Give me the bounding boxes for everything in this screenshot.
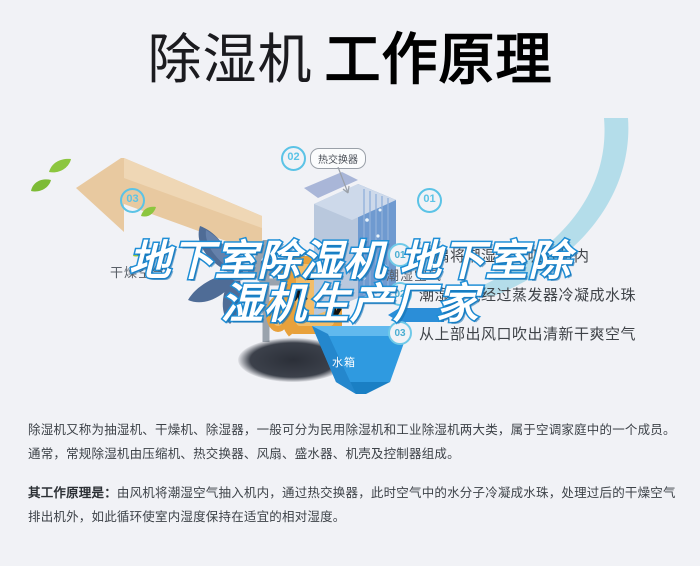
step-marker-02-number: 02 — [281, 146, 306, 171]
legend-text-02: 潮湿空气经过蒸发器冷凝成水珠 — [419, 284, 636, 305]
paragraph-2: 其工作原理是：由风机将潮湿空气抽入机内，通过热交换器，此时空气中的水分子冷凝成水… — [28, 481, 678, 530]
leaf-icon — [48, 158, 72, 179]
legend-text-01: 风扇将潮湿空气吸入机内 — [419, 245, 590, 266]
step-marker-01-number: 01 — [417, 188, 442, 213]
dry-air-label: 干燥空气 — [110, 262, 166, 281]
step-marker-03-number: 03 — [120, 188, 145, 213]
step-marker-03: 03 — [120, 188, 145, 213]
legend-item: 02 潮湿空气经过蒸发器冷凝成水珠 — [388, 283, 688, 305]
water-tank-label: 水箱 — [332, 354, 356, 370]
paragraph-2-lead: 其工作原理是： — [28, 486, 117, 500]
paragraph-1: 除湿机又称为抽湿机、干燥机、除湿器，一般可分为民用除湿机和工业除湿机两大类，属于… — [28, 418, 678, 467]
step-marker-02: 02 — [281, 146, 306, 171]
legend-badge-01: 01 — [388, 243, 412, 267]
step-marker-01: 01 — [417, 188, 442, 213]
page-title-light: 除湿机 — [148, 33, 313, 87]
leaf-icon — [132, 245, 147, 263]
page-title-bold: 工作原理 — [325, 32, 553, 88]
legend-item: 01 风扇将潮湿空气吸入机内 — [388, 244, 688, 266]
leaf-icon — [30, 178, 52, 198]
legend-badge-03: 03 — [388, 321, 412, 345]
legend-badge-02: 02 — [388, 282, 412, 306]
heat-exchanger-callout: 热交换器 — [310, 148, 366, 169]
legend-item: 03 从上部出风口吹出清新干爽空气 — [388, 322, 688, 344]
process-legend-list: 01 风扇将潮湿空气吸入机内 02 潮湿空气经过蒸发器冷凝成水珠 03 从上部出… — [388, 244, 688, 361]
legend-text-03: 从上部出风口吹出清新干爽空气 — [419, 323, 636, 344]
callout-tail-icon — [336, 167, 350, 201]
article-body: 除湿机又称为抽湿机、干燥机、除湿器，一般可分为民用除湿机和工业除湿机两大类，属于… — [28, 418, 678, 530]
page-title: 除湿机 工作原理 — [0, 22, 700, 98]
heat-exchanger-callout-label: 热交换器 — [318, 155, 358, 166]
paragraph-2-rest: 由风机将潮湿空气抽入机内，通过热交换器，此时空气中的水分子冷凝成水珠，处理过后的… — [28, 486, 676, 524]
